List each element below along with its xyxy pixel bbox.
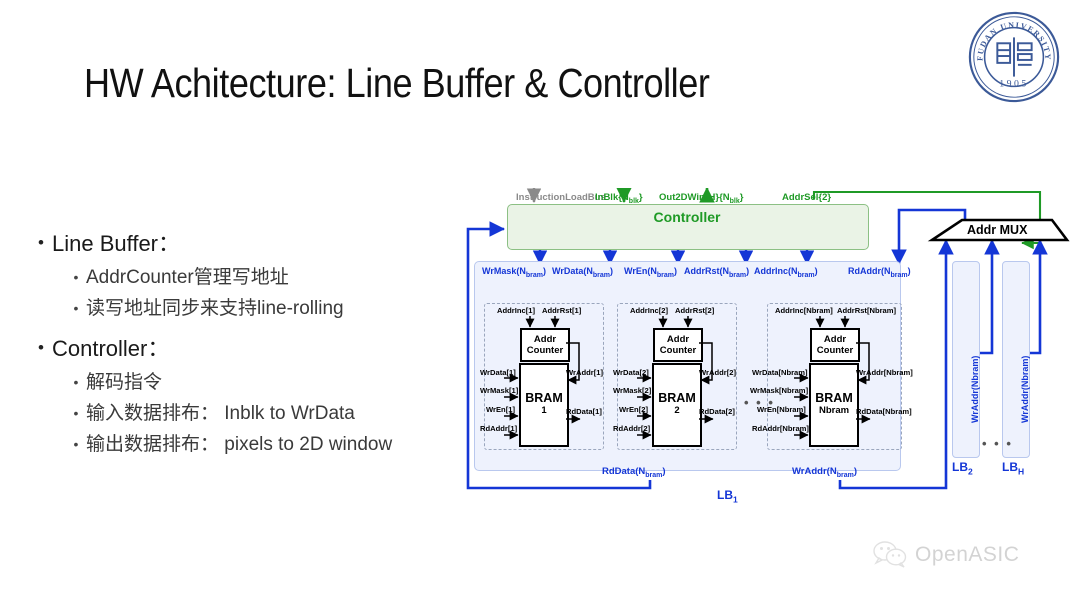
bram-index: 2 (654, 405, 700, 416)
bottom-rddata-label: RdData(Nbram) (602, 466, 666, 479)
bram-block-1[interactable]: BRAM 1 (519, 363, 569, 447)
cell2-wraddr: WrAddr[2] (699, 368, 736, 377)
addr-mux-label: Addr MUX (967, 223, 1027, 237)
bullet-text: 解码指令 (86, 368, 162, 397)
bullet-text: Controller： (52, 333, 169, 364)
cell2-wren: WrEn[2] (619, 405, 648, 414)
page-title: HW Achitecture: Line Buffer & Controller (84, 60, 709, 107)
bullet-addrcounter: • AddrCounter管理写地址 (30, 263, 460, 292)
bullet-dot-icon: • (66, 368, 86, 396)
bullet-output-layout: • 输出数据排布： pixels to 2D window (30, 430, 460, 459)
lbh-name: LBH (1002, 460, 1024, 476)
bram-block-2[interactable]: BRAM 2 (652, 363, 702, 447)
cell2-wrmask: WrMask[2] (613, 386, 651, 395)
openasic-watermark: OpenASIC (872, 540, 1019, 570)
bullet-text: 输入数据排布： Inblk to WrData (86, 399, 355, 428)
cell1-wrmask: WrMask[1] (480, 386, 518, 395)
addr-counter-text: AddrCounter (660, 334, 696, 356)
svg-text:1905: 1905 (999, 78, 1028, 89)
bullet-dot-icon: • (66, 263, 86, 291)
addr-counter-1[interactable]: AddrCounter (520, 328, 570, 362)
watermark-text: OpenASIC (915, 543, 1019, 567)
lb2-wraddr-label: WrAddr(Nbram) (970, 356, 980, 423)
addr-counter-nbram[interactable]: AddrCounter (810, 328, 860, 362)
celln-addrinc-label: AddrInc[Nbram] (775, 306, 833, 315)
cell1-rdaddr: RdAddr[1] (480, 424, 517, 433)
bullet-dot-icon: • (66, 430, 86, 458)
signal-addrinc: AddrInc(Nbram) (754, 266, 818, 279)
pin-instructionloadbus: InstructionLoadBus (516, 192, 606, 203)
celln-rdaddr: RdAddr[Nbram] (752, 424, 809, 433)
cell2-rdaddr: RdAddr[2] (613, 424, 650, 433)
cell1-wraddr: WrAddr[1] (566, 368, 603, 377)
addr-counter-text: AddrCounter (817, 334, 853, 356)
signal-wrmask: WrMask(Nbram) (482, 266, 546, 279)
cell1-wren: WrEn[1] (486, 405, 515, 414)
bottom-wraddr-label: WrAddr(Nbram) (792, 466, 857, 479)
cell1-wrdata: WrData[1] (480, 368, 516, 377)
lbh-wraddr-label: WrAddr(Nbram) (1020, 356, 1030, 423)
celln-wrmask: WrMask[Nbram] (750, 386, 808, 395)
wechat-icon (872, 540, 908, 570)
signal-wrdata: WrData(Nbram) (552, 266, 613, 279)
cell2-rddata: RdData[2] (699, 407, 735, 416)
bullet-dot-icon: • (30, 333, 52, 363)
bullet-input-layout: • 输入数据排布： Inblk to WrData (30, 399, 460, 428)
bullet-list: • Line Buffer： • AddrCounter管理写地址 • 读写地址… (30, 228, 460, 461)
celln-rddata: RdData[Nbram] (856, 407, 912, 416)
bullet-dot-icon: • (66, 399, 86, 427)
controller-label: Controller (507, 209, 867, 225)
bram-index: 1 (521, 405, 567, 416)
bullet-dot-icon: • (66, 294, 86, 322)
pin-out2dwin: Out2DWin{H}{Nblk} (659, 192, 743, 205)
signal-rdaddr: RdAddr(Nbram) (848, 266, 911, 279)
bram-block-nbram[interactable]: BRAM Nbram (809, 363, 859, 447)
addr-counter-text: AddrCounter (527, 334, 563, 356)
pin-addrsel: AddrSel{2} (782, 192, 831, 203)
bullet-controller: • Controller： (30, 333, 460, 364)
cell1-addrrst-label: AddrRst[1] (542, 306, 581, 315)
bullet-line-rolling: • 读写地址同步来支持line-rolling (30, 294, 460, 323)
addr-counter-2[interactable]: AddrCounter (653, 328, 703, 362)
celln-wraddr: WrAddr[Nbram] (856, 368, 913, 377)
bullet-text: AddrCounter管理写地址 (86, 263, 289, 292)
bram-title: BRAM (811, 391, 857, 405)
bullet-text: 输出数据排布： pixels to 2D window (86, 430, 392, 459)
lb1-name: LB1 (717, 488, 738, 504)
fudan-university-logo: FUDAN UNIVERSITY 1905 (965, 8, 1063, 106)
bram-title: BRAM (521, 391, 567, 405)
bullet-text: Line Buffer： (52, 228, 180, 259)
lb-columns-ellipsis: • • • (982, 436, 1013, 451)
pin-inblk: InBlk{Nblk} (595, 192, 643, 205)
cell2-addrinc-label: AddrInc[2] (630, 306, 668, 315)
celln-wrdata: WrData[Nbram] (752, 368, 808, 377)
bram-index: Nbram (811, 405, 857, 416)
celln-addrrst-label: AddrRst[Nbram] (837, 306, 896, 315)
bullet-dot-icon: • (30, 228, 52, 258)
cell1-rddata: RdData[1] (566, 407, 602, 416)
bram-title: BRAM (654, 391, 700, 405)
architecture-diagram: Controller InstructionLoadBus InBlk{Nblk… (462, 188, 1074, 518)
signal-addrrst: AddrRst(Nbram) (684, 266, 749, 279)
signal-wren: WrEn(Nbram) (624, 266, 677, 279)
celln-wren: WrEn[Nbram] (757, 405, 806, 414)
lb2-name: LB2 (952, 460, 973, 476)
cell2-wrdata: WrData[2] (613, 368, 649, 377)
cell1-addrinc-label: AddrInc[1] (497, 306, 535, 315)
bullet-text: 读写地址同步来支持line-rolling (86, 294, 344, 323)
cell2-addrrst-label: AddrRst[2] (675, 306, 714, 315)
bullet-line-buffer: • Line Buffer： (30, 228, 460, 259)
bullet-decode: • 解码指令 (30, 368, 460, 397)
